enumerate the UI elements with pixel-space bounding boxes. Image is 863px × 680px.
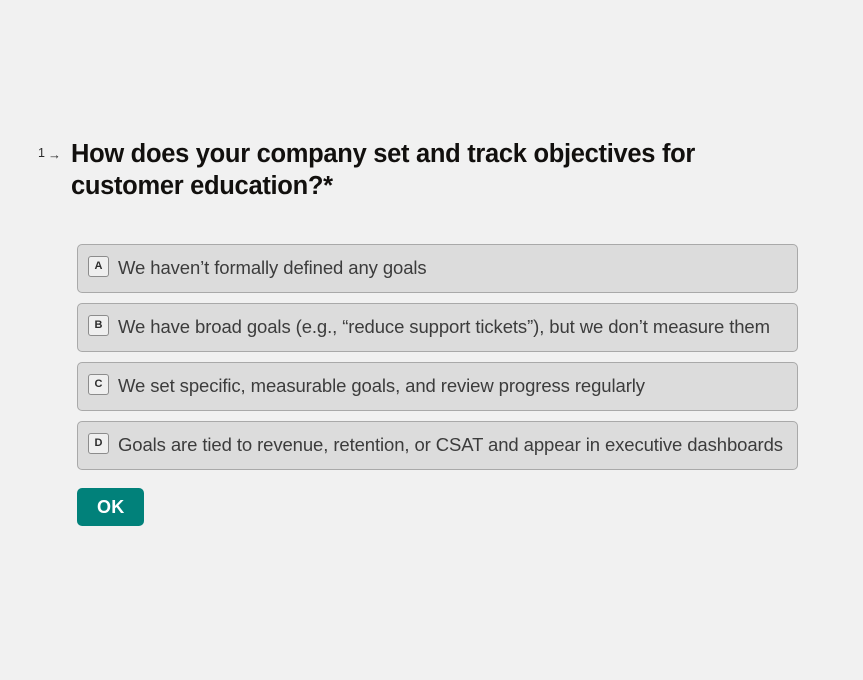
choice-list: A We haven’t formally defined any goals … bbox=[38, 244, 828, 470]
choice-option-b[interactable]: B We have broad goals (e.g., “reduce sup… bbox=[77, 303, 798, 352]
choice-option-d[interactable]: D Goals are tied to revenue, retention, … bbox=[77, 421, 798, 470]
choice-label-b: We have broad goals (e.g., “reduce suppo… bbox=[118, 313, 785, 341]
choice-label-c: We set specific, measurable goals, and r… bbox=[118, 372, 785, 400]
choice-key-badge-a: A bbox=[88, 256, 109, 277]
required-asterisk: * bbox=[323, 172, 333, 200]
choice-key-badge-d: D bbox=[88, 433, 109, 454]
submit-row: OK bbox=[38, 488, 828, 526]
arrow-right-icon: → bbox=[48, 148, 61, 161]
question-header: 1 → How does your company set and track … bbox=[38, 138, 828, 202]
choice-key-badge-c: C bbox=[88, 374, 109, 395]
choice-key-badge-b: B bbox=[88, 315, 109, 336]
question-block: 1 → How does your company set and track … bbox=[38, 138, 828, 526]
choice-option-c[interactable]: C We set specific, measurable goals, and… bbox=[77, 362, 798, 411]
question-title-text: How does your company set and track obje… bbox=[71, 140, 695, 200]
choice-option-a[interactable]: A We haven’t formally defined any goals bbox=[77, 244, 798, 293]
page-title: How does your company set and track obje… bbox=[61, 138, 731, 202]
ok-button[interactable]: OK bbox=[77, 488, 144, 526]
choice-label-a: We haven’t formally defined any goals bbox=[118, 254, 785, 282]
survey-question-viewport: 1 → How does your company set and track … bbox=[0, 0, 863, 680]
question-number-indicator: 1 → bbox=[38, 138, 61, 160]
choice-label-d: Goals are tied to revenue, retention, or… bbox=[118, 431, 785, 459]
question-number: 1 bbox=[38, 147, 45, 160]
